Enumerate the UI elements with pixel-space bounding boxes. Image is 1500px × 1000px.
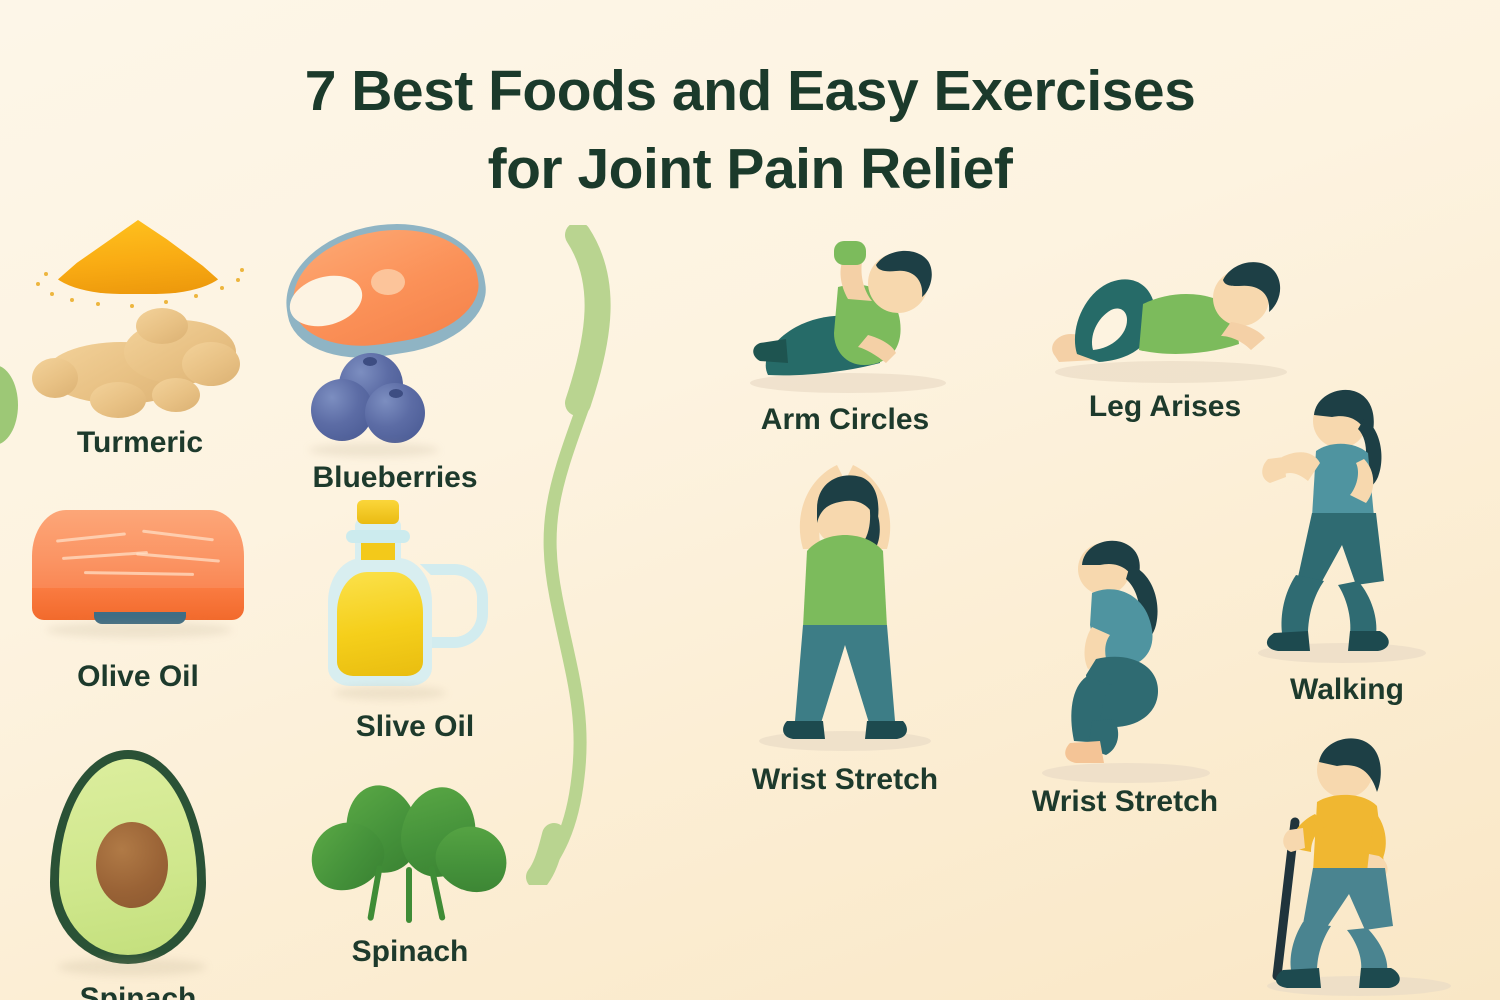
- infographic-canvas: 7 Best Foods and Easy Exercises for Join…: [0, 0, 1500, 1000]
- food-item-olive-oil[interactable]: Olive Oil: [18, 510, 258, 710]
- olive-oil-bottle-icon: [328, 500, 468, 690]
- food-label-spinach: Spinach: [290, 935, 530, 969]
- food-label-spinach-avocado: Spinach: [18, 982, 258, 1000]
- title-line-2: for Joint Pain Relief: [0, 130, 1500, 208]
- walking-woman-icon: [1250, 385, 1440, 665]
- person-walking-with-cane-icon: [1255, 730, 1455, 1000]
- ginger-root-icon: [32, 308, 248, 420]
- exercise-label-arm-circles: Arm Circles: [725, 403, 965, 437]
- food-item-turmeric[interactable]: Turmeric: [20, 220, 260, 480]
- spinach-leaves-icon: [310, 785, 510, 925]
- food-item-spinach[interactable]: Spinach: [290, 785, 530, 990]
- exercise-item-wrist-stretch-standing[interactable]: Wrist Stretch: [745, 445, 945, 815]
- food-label-olive-oil: Olive Oil: [18, 660, 258, 694]
- food-label-blueberries: Blueberries: [270, 461, 520, 495]
- salmon-fillet-icon: [32, 510, 244, 628]
- page-title: 7 Best Foods and Easy Exercises for Join…: [0, 52, 1500, 208]
- title-line-1: 7 Best Foods and Easy Exercises: [0, 52, 1500, 130]
- wavy-divider-icon: [520, 225, 630, 885]
- exercise-label-walking: Walking: [1222, 673, 1472, 707]
- standing-person-arms-overhead-icon: [745, 445, 945, 755]
- food-label-turmeric: Turmeric: [20, 426, 260, 460]
- salmon-steak-icon: [285, 225, 485, 355]
- clipped-green-leaf-icon: [0, 365, 18, 445]
- avocado-half-icon: [50, 750, 206, 964]
- exercise-item-cane-walker[interactable]: [1255, 730, 1455, 1000]
- exercise-label-wrist-stretch-squat: Wrist Stretch: [1000, 785, 1250, 819]
- food-item-slive-oil[interactable]: Slive Oil: [300, 500, 530, 770]
- exercise-item-arm-circles[interactable]: Arm Circles: [730, 235, 960, 440]
- exercise-item-wrist-stretch-squat[interactable]: Wrist Stretch: [1030, 535, 1220, 825]
- seated-person-raising-arm-icon: [730, 235, 960, 395]
- food-item-blueberries[interactable]: Blueberries: [275, 225, 525, 515]
- exercise-item-walking[interactable]: Walking: [1250, 385, 1440, 715]
- squatting-woman-icon: [1030, 535, 1220, 785]
- blueberries-icon: [311, 353, 451, 453]
- reclining-person-bent-knee-icon: [1035, 240, 1295, 390]
- exercise-label-wrist-stretch-standing: Wrist Stretch: [715, 763, 975, 797]
- food-item-spinach-avocado[interactable]: Spinach: [18, 750, 258, 990]
- food-label-slive-oil: Slive Oil: [295, 710, 535, 744]
